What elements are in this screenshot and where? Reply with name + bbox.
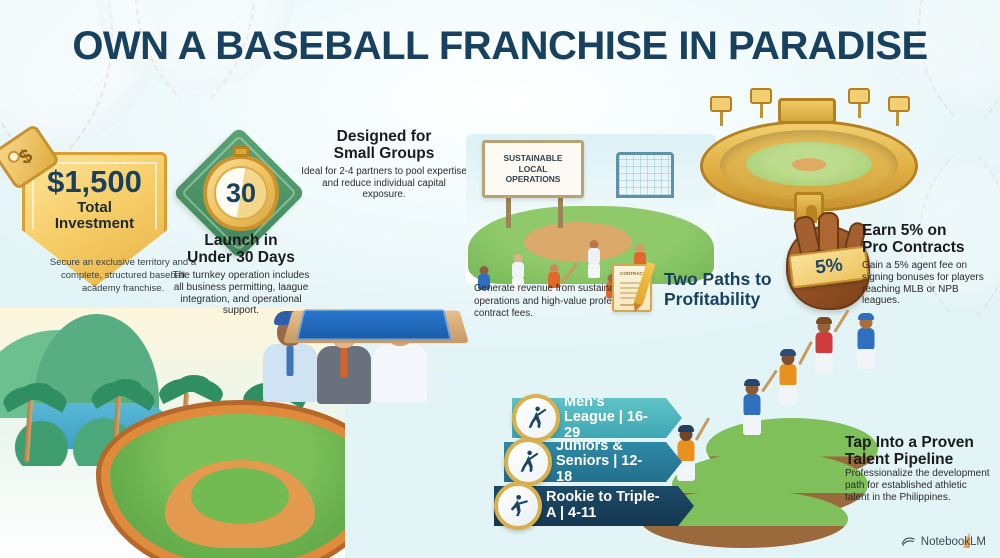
talent-pipeline-heading-line2: Talent Pipeline (845, 451, 953, 468)
talent-pipeline-body: Professionalize the development path for… (845, 468, 993, 503)
level-label-line1: Juniors & (556, 438, 623, 454)
stadium-light-icon (710, 96, 732, 112)
level-label-line1: Rookie to Triple-A | 4-11 (546, 489, 660, 521)
field-blueprint (296, 309, 452, 340)
two-paths-heading-line2: Profitability (664, 289, 760, 309)
sign-line1: SUSTAINABLE (504, 153, 563, 164)
level-label-line2: Seniors | 12-18 (556, 453, 642, 485)
batting-cage-icon (616, 152, 674, 198)
launch-heading-line2: Under 30 Days (187, 249, 295, 266)
sign-line3: OPERATIONS (506, 174, 561, 185)
two-paths-heading-line1: Two Paths to (664, 269, 772, 289)
notebooklm-watermark: NotebookLM (901, 535, 986, 548)
pipeline-level-row[interactable]: Juniors & Seniors | 12-18 (504, 442, 682, 482)
batting-helmet-icon (780, 349, 796, 356)
sustainable-operations-sign: SUSTAINABLE LOCAL OPERATIONS (482, 140, 584, 198)
baseball-cap-icon (858, 313, 874, 320)
batting-helmet-icon (744, 379, 760, 386)
talent-pipeline-heading-line1: Tap Into a Proven (845, 434, 974, 451)
infographic-canvas: OWN A BASEBALL FRANCHISE IN PARADISE $ $… (0, 0, 1000, 558)
launch-badge: 30 (186, 140, 296, 245)
investment-label: Total Investment (22, 200, 167, 232)
investment-label-line1: Total (77, 199, 112, 216)
stopwatch-icon: 30 (203, 155, 279, 231)
stadium-scoreboard (778, 98, 836, 124)
stadium-illustration (700, 96, 918, 224)
pro-contracts-heading: Earn 5% on Pro Contracts (862, 222, 998, 257)
stadium-light-icon (750, 88, 772, 104)
small-groups-heading-line1: Designed for (337, 128, 432, 145)
talent-pipeline-levels: Men's League | 16-29 Juniors & Seniors |… (498, 392, 738, 542)
batter-silhouette-icon (494, 482, 542, 530)
pro-contracts-heading-line1: Earn 5% on (862, 222, 946, 239)
level-label-line1: Men's (564, 394, 605, 410)
pipeline-level-label: Men's League | 16-29 (564, 395, 656, 442)
level-label-line2: League | 16-29 (564, 409, 648, 441)
stadium-light-icon (848, 88, 870, 104)
page-title: OWN A BASEBALL FRANCHISE IN PARADISE (0, 24, 1000, 69)
baseball-diamond (110, 414, 345, 558)
small-groups-heading: Designed for Small Groups (308, 128, 460, 163)
sign-line2: LOCAL (519, 164, 548, 175)
small-groups-body: Ideal for 2-4 partners to pool expertise… (300, 166, 468, 201)
pipeline-level-row[interactable]: Men's League | 16-29 (512, 398, 682, 438)
small-groups-heading-line2: Small Groups (334, 145, 435, 162)
launch-heading-line1: Launch in (204, 232, 277, 249)
investment-amount: $1,500 (22, 164, 167, 200)
pro-contracts-heading-line2: Pro Contracts (862, 239, 965, 256)
local-operations-illustration: SUSTAINABLE LOCAL OPERATIONS (466, 134, 716, 284)
investment-label-line2: Investment (55, 215, 134, 232)
stadium-light-icon (888, 96, 910, 112)
notebooklm-icon (901, 535, 916, 548)
talent-pipeline-heading: Tap Into a Proven Talent Pipeline (845, 434, 997, 469)
batting-helmet-icon (816, 317, 832, 324)
batter-silhouette-icon (512, 394, 560, 442)
pipeline-level-label: Juniors & Seniors | 12-18 (556, 439, 656, 486)
two-paths-heading: Two Paths to Profitability (664, 270, 794, 310)
pipeline-level-label: Rookie to Triple-A | 4-11 (546, 490, 668, 521)
business-partners-illustration (286, 218, 466, 346)
pro-contracts-body: Gain a 5% agent fee on signing bonuses f… (862, 260, 996, 307)
launch-days-number: 30 (226, 178, 256, 209)
watermark-text: NotebookLM (921, 536, 986, 548)
pipeline-level-row[interactable]: Rookie to Triple-A | 4-11 (494, 486, 694, 526)
batter-silhouette-icon (504, 438, 552, 486)
